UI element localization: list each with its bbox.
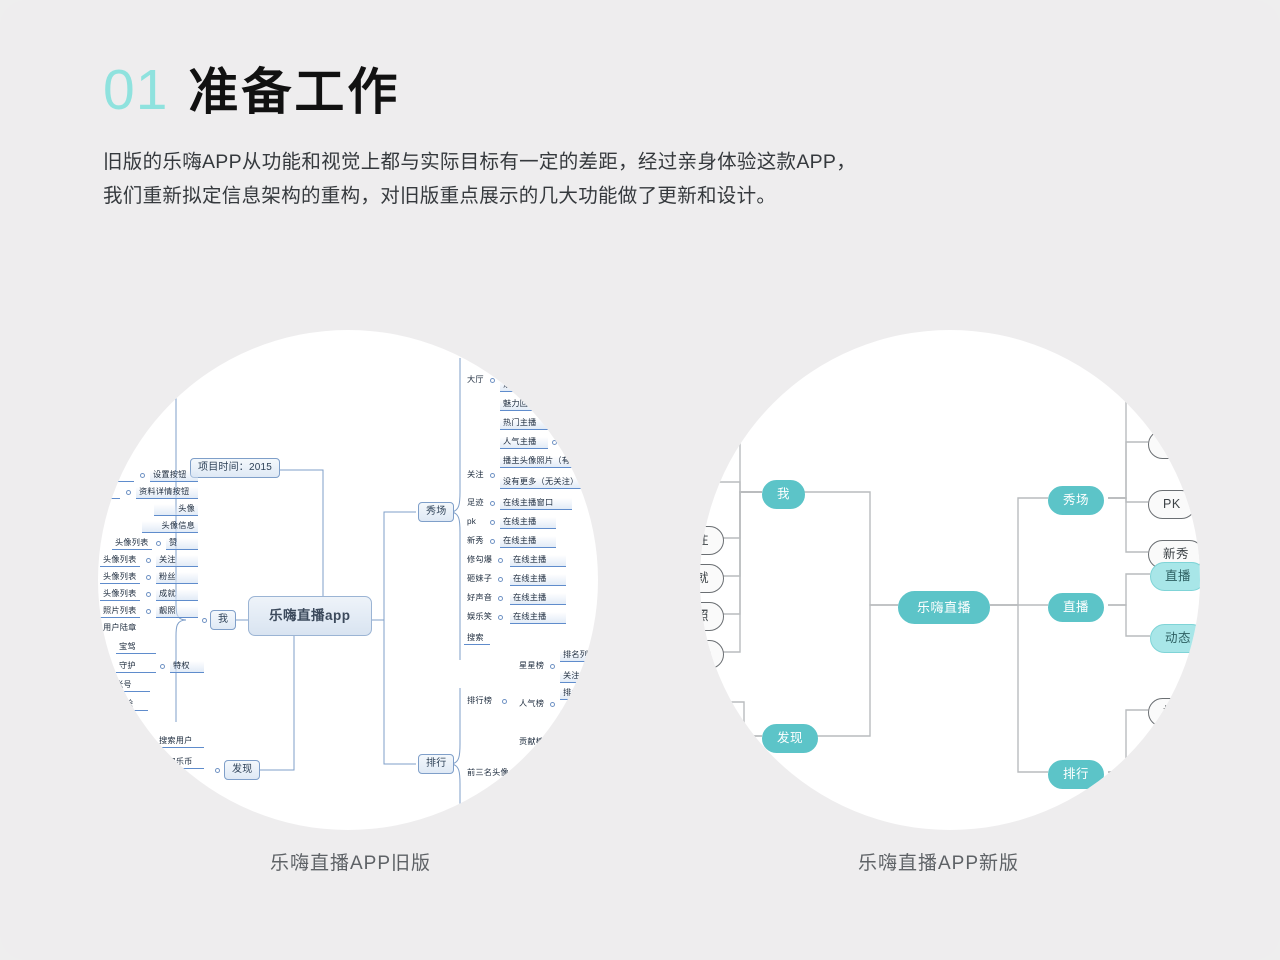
old-leaf-right: 靓照 xyxy=(156,606,198,618)
old-connector-dot xyxy=(146,592,151,597)
old-group-footprint: 足迹 xyxy=(464,498,488,509)
old-leaf-item: 播主头像照片（有关注） xyxy=(500,456,598,468)
old-group-hall: 大厅 xyxy=(464,375,488,386)
old-leaf-left: 头像列表 xyxy=(100,572,140,584)
old-branch-rank: 排行 xyxy=(418,754,454,774)
old-connector-dot xyxy=(160,664,165,669)
old-leaf-right: 无取乐币 xyxy=(156,757,204,769)
slide-page: 01 准备工作 旧版的乐嗨APP从功能和视觉上都与实际目标有一定的差距，经过亲身… xyxy=(0,0,1280,960)
section-number: 01 xyxy=(103,62,168,119)
new-branch-rank: 排行 xyxy=(1048,760,1104,789)
old-leaf-item: 在线主 xyxy=(500,361,558,373)
old-group-6: 砸妹子 xyxy=(464,574,494,585)
old-connector-dot xyxy=(202,618,207,623)
old-leaf-right: 成就 xyxy=(156,589,198,601)
old-connector-dot xyxy=(498,615,503,620)
new-me-child xyxy=(700,468,718,484)
old-group-7: 好声音 xyxy=(464,593,494,604)
old-group-pk: pk xyxy=(464,517,484,528)
old-leaf-item: 热门主播 xyxy=(500,418,548,430)
old-leaf-left: 头像列表 xyxy=(100,555,140,567)
old-rank-contrib: 贡献榜 xyxy=(516,737,546,748)
old-group-search: 搜索 xyxy=(464,633,490,645)
old-version-mindmap: 项目时间：2015 乐嗨直播app 我 上角 设置按钮 角 资料详情按钮 头像 … xyxy=(98,300,598,860)
old-map-circle-mask: 项目时间：2015 乐嗨直播app 我 上角 设置按钮 角 资料详情按钮 头像 … xyxy=(98,330,598,830)
old-rank-top3: 前三名头像 xyxy=(464,768,512,779)
old-rank-item: 关注按钮 xyxy=(560,709,598,721)
new-map-circle-mask: 乐嗨直播 我 关注 成就 靓照 特权 发现 秀场 头 足迹 PK 新秀 直 xyxy=(700,330,1200,830)
description-line-1: 旧版的乐嗨APP从功能和视觉上都与实际目标有一定的差距，经过亲身体验这款APP， xyxy=(103,145,1003,179)
old-group-ranklist: 排行榜 xyxy=(464,696,500,707)
old-connector-dot xyxy=(144,739,149,744)
old-connector-dot xyxy=(156,541,161,546)
old-branch-discover: 发现 xyxy=(224,760,260,780)
old-connector-dot xyxy=(146,558,151,563)
old-leaf-item: 箭头相关 xyxy=(562,437,598,449)
old-branch-me: 我 xyxy=(210,610,236,630)
old-leaf-left: 绘 xyxy=(122,699,148,711)
old-connector-dot xyxy=(146,609,151,614)
old-connector-dot xyxy=(146,575,151,580)
new-map-caption: 乐嗨直播APP新版 xyxy=(858,848,1019,875)
new-node-root: 乐嗨直播 xyxy=(898,591,990,624)
new-show-child-pk: PK xyxy=(1148,490,1196,519)
old-group-8: 娱乐笑 xyxy=(464,612,494,623)
old-rank-bottom: 排行 xyxy=(464,805,492,816)
old-branch-show: 秀场 xyxy=(418,502,454,522)
diagram-area: 项目时间：2015 乐嗨直播app 我 上角 设置按钮 角 资料详情按钮 头像 … xyxy=(0,300,1280,940)
old-rank-item: 排名 xyxy=(530,762,564,774)
old-leaf-left: 头像列表 xyxy=(112,538,152,550)
old-leaf-item: 在线主播 xyxy=(510,612,566,624)
old-group-newcomer: 新秀 xyxy=(464,536,488,547)
old-leaf-right: 搜索用户 xyxy=(156,736,204,748)
old-group-5: 修勾爆 xyxy=(464,555,494,566)
new-version-mindmap: 乐嗨直播 我 关注 成就 靓照 特权 发现 秀场 头 足迹 PK 新秀 直 xyxy=(680,300,1280,860)
new-discover-child xyxy=(700,690,724,706)
old-connector-dot xyxy=(498,577,503,582)
old-group-follow: 关注 xyxy=(464,470,488,481)
old-connector-dot xyxy=(518,771,523,776)
old-rank-item: 排名列表用户 xyxy=(560,688,598,700)
old-leaf-right: 资料详情按钮 xyxy=(136,487,198,499)
old-connector-dot xyxy=(490,501,495,506)
old-leaf-right: 头像 xyxy=(154,504,198,516)
old-connector-dot xyxy=(550,664,555,669)
old-rank-item: 关注按钮 xyxy=(560,671,598,683)
new-branch-show: 秀场 xyxy=(1048,486,1104,515)
old-leaf-left: 角 xyxy=(98,487,120,499)
old-leaf-right: 粉丝 xyxy=(156,572,198,584)
new-branch-me: 我 xyxy=(762,480,805,509)
old-leaf-item: 箭 xyxy=(562,399,592,411)
old-leaf-item: 人气主播 xyxy=(500,437,548,449)
old-leaf-right: 关注 xyxy=(156,555,198,567)
old-connector-dot xyxy=(498,558,503,563)
old-leaf-item: 在线主播 xyxy=(500,536,556,548)
old-leaf-item: 在线主播窗口 xyxy=(500,498,572,510)
old-node-root: 乐嗨直播app xyxy=(248,596,372,636)
old-connector-dot xyxy=(552,440,557,445)
new-live-child-live: 直播 xyxy=(1150,562,1200,591)
old-leaf-item: 在线主播 xyxy=(510,593,566,605)
old-rank-item: 排名 xyxy=(560,726,596,738)
old-leaf-left: 用户陆章 xyxy=(100,623,152,634)
old-leaf-item: 箭头 xyxy=(562,418,596,430)
new-show-child-footprint: 足迹 xyxy=(1148,430,1200,459)
old-connector-dot xyxy=(552,421,557,426)
old-connector-dot xyxy=(126,490,131,495)
old-leaf-left: 宝驾 xyxy=(116,642,156,654)
old-connector-dot xyxy=(215,768,220,773)
old-rank-popular: 人气榜 xyxy=(516,699,546,710)
new-rank-child-list: 排行榜 xyxy=(1148,698,1200,727)
old-connector-dot xyxy=(550,740,555,745)
old-connector-dot xyxy=(490,473,495,478)
old-map-caption: 乐嗨直播APP旧版 xyxy=(270,848,431,875)
old-leaf-item: 在线主播 xyxy=(510,574,566,586)
new-rank-child-other xyxy=(1146,788,1196,804)
old-connector-dot xyxy=(490,539,495,544)
page-description: 旧版的乐嗨APP从功能和视觉上都与实际目标有一定的差距，经过亲身体验这款APP，… xyxy=(103,145,1003,213)
new-me-child xyxy=(700,428,724,444)
old-connector-dot xyxy=(490,378,495,383)
old-node-project-time: 项目时间：2015 xyxy=(190,458,280,478)
old-connector-dot xyxy=(552,402,557,407)
page-header: 01 准备工作 旧版的乐嗨APP从功能和视觉上都与实际目标有一定的差距，经过亲身… xyxy=(103,62,1003,213)
old-leaf-left: 照片列表 xyxy=(100,606,140,618)
old-leaf-left: 头像列表 xyxy=(100,589,140,601)
old-leaf-left: 上角 xyxy=(100,470,134,482)
new-branch-live: 直播 xyxy=(1048,593,1104,622)
old-leaf-left: 守护 xyxy=(116,661,156,673)
old-rank-item: 排名列表用户信息/ xyxy=(560,650,598,662)
old-leaf-right: 设置按钮 xyxy=(150,470,198,482)
old-connector-dot xyxy=(502,699,507,704)
old-leaf-item: 没有更多（无关注） xyxy=(500,477,594,489)
old-leaf-right: 特权 xyxy=(170,661,204,673)
old-leaf-right: 头像信息 xyxy=(142,521,198,533)
old-leaf-item: 滚动banner xyxy=(500,380,564,392)
new-show-child-top: 头 xyxy=(1150,380,1200,409)
title-row: 01 准备工作 xyxy=(103,62,1003,119)
old-leaf-item: 在线主播 xyxy=(500,517,556,529)
old-leaf-right: 赞 xyxy=(166,538,198,550)
old-connector-dot xyxy=(490,520,495,525)
old-connector-dot xyxy=(498,596,503,601)
new-map-connectors xyxy=(700,330,1200,830)
new-live-child-feed: 动态 xyxy=(1150,624,1200,653)
old-leaf-left: 帐号 xyxy=(112,680,150,692)
new-branch-discover: 发现 xyxy=(762,724,818,753)
old-leaf-item: 魅力回封 xyxy=(500,399,548,411)
old-leaf-item: 在线主播 xyxy=(510,555,566,567)
old-connector-dot xyxy=(140,473,145,478)
old-connector-dot xyxy=(550,702,555,707)
page-title: 准备工作 xyxy=(188,67,400,117)
old-rank-star: 星星榜 xyxy=(516,661,546,672)
description-line-2: 我们重新拟定信息架构的重构，对旧版重点展示的几大功能做了更新和设计。 xyxy=(103,179,1003,213)
